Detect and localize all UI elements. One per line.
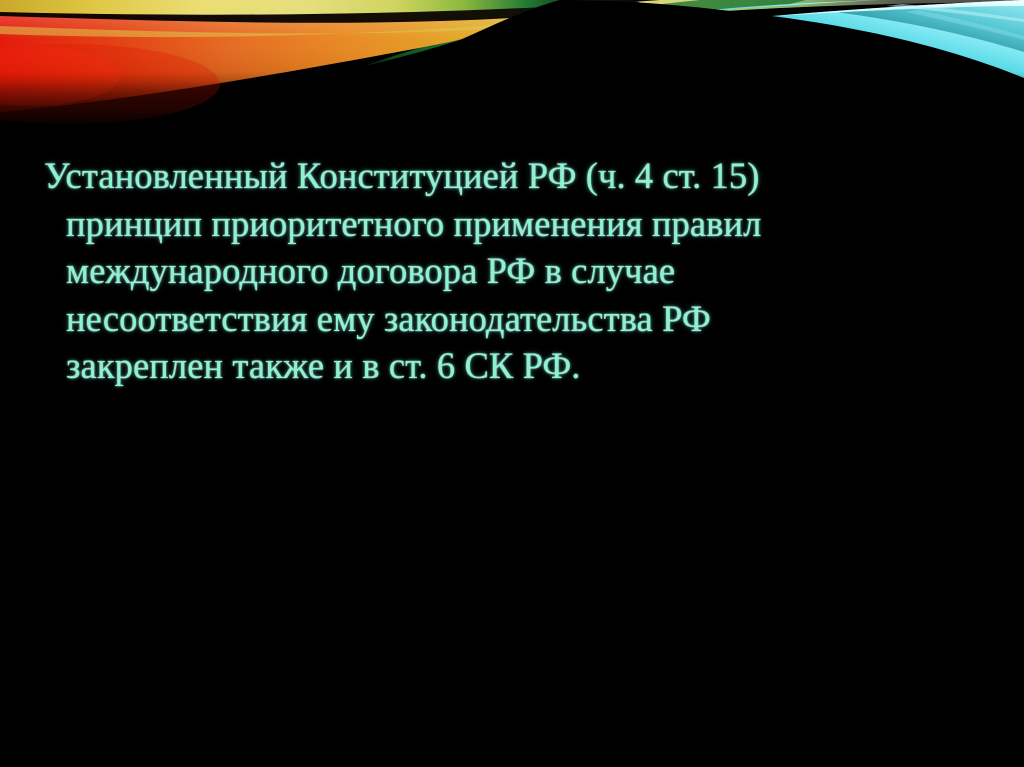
abstract-ribbon-banner [0, 0, 1024, 130]
slide-canvas: Установленный Конституцией РФ (ч. 4 ст. … [0, 0, 1024, 767]
body-line-5: закреплен также и в ст. 6 СК РФ. [66, 342, 974, 390]
body-line-2: принцип приоритетного применения правил [66, 200, 974, 248]
slide-body: Установленный Конституцией РФ (ч. 4 ст. … [44, 152, 974, 390]
body-line-3: международного договора РФ в случае [66, 247, 974, 295]
body-paragraph: Установленный Конституцией РФ (ч. 4 ст. … [44, 152, 974, 390]
body-line-4: несоответствия ему законодательства РФ [66, 295, 974, 343]
body-line-1: Установленный Конституцией РФ (ч. 4 ст. … [44, 152, 974, 200]
